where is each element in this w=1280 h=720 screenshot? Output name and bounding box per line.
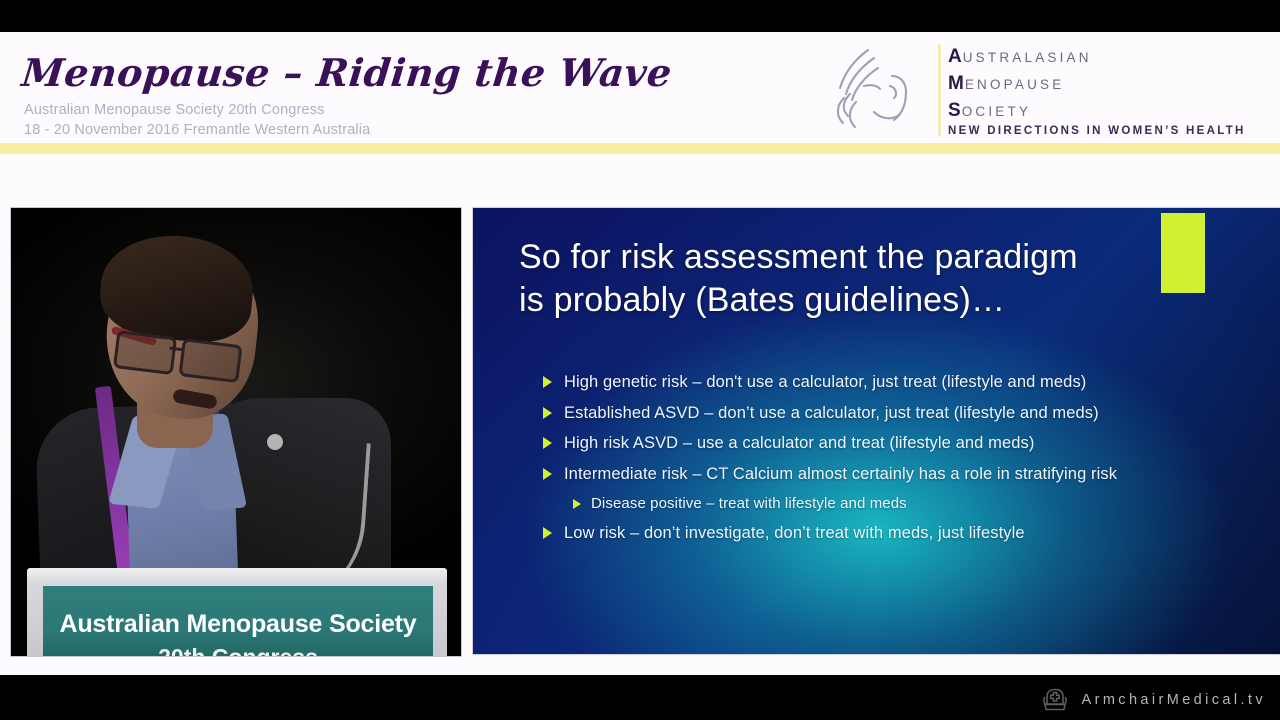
speaker-video-panel[interactable]: Australian Menopause Society 20th Congre… — [10, 207, 462, 657]
list-item: High genetic risk – don't use a calculat… — [543, 373, 1263, 392]
glasses-lens-left — [113, 330, 177, 375]
microphone-head — [267, 434, 283, 450]
slide-title-line2: is probably (Bates guidelines)… — [519, 279, 1219, 322]
list-item: Low risk – don’t investigate, don’t trea… — [543, 524, 1263, 543]
congress-title: Menopause – Riding the Wave — [20, 50, 675, 95]
triangle-bullet-icon — [543, 437, 552, 449]
list-item: Intermediate risk – CT Calcium almost ce… — [543, 465, 1263, 484]
presentation-slide-panel[interactable]: So for risk assessment the paradigm is p… — [472, 207, 1280, 655]
glasses-lens-right — [178, 338, 242, 383]
slide-title-line1: So for risk assessment the paradigm — [519, 236, 1219, 279]
logo-word-australasian: USTRALASIAN — [963, 50, 1092, 65]
congress-subtitle-line1: Australian Menopause Society 20th Congre… — [24, 102, 325, 118]
slide-bullet-list: High genetic risk – don't use a calculat… — [543, 373, 1263, 555]
list-item: High risk ASVD – use a calculator and tr… — [543, 434, 1263, 453]
logo-line-menopause: MENOPAUSE — [948, 74, 1064, 93]
logo-initial-a: A — [948, 46, 963, 67]
podium-sign: Australian Menopause Society 20th Congre… — [43, 586, 433, 656]
bullet-text: Established ASVD – don’t use a calculato… — [564, 404, 1099, 423]
triangle-bullet-icon — [573, 499, 581, 509]
logo-initial-m: M — [948, 73, 965, 94]
podium-sign-line1: Australian Menopause Society — [43, 610, 433, 639]
watermark-brand-text: ArmchairMedical.tv — [1082, 692, 1266, 708]
slide-title: So for risk assessment the paradigm is p… — [519, 236, 1219, 322]
slide-page-background: Menopause – Riding the Wave Australian M… — [0, 32, 1280, 675]
triangle-bullet-icon — [543, 527, 552, 539]
triangle-bullet-icon — [543, 468, 552, 480]
congress-banner: Menopause – Riding the Wave Australian M… — [0, 32, 1280, 153]
logo-word-menopause: ENOPAUSE — [965, 77, 1065, 92]
logo-line-society: SOCIETY — [948, 101, 1031, 120]
face-profile-icon — [828, 42, 928, 140]
podium-sign-line2: 20th Congress — [43, 644, 433, 656]
logo-initial-s: S — [948, 100, 962, 121]
logo-line-australasian: AUSTRALASIAN — [948, 47, 1092, 66]
armchair-medical-watermark[interactable]: ArmchairMedical.tv — [1042, 686, 1266, 714]
bullet-text: Low risk – don’t investigate, don’t trea… — [564, 524, 1025, 543]
logo-word-society: OCIETY — [962, 104, 1031, 119]
content-row: Australian Menopause Society 20th Congre… — [0, 207, 1280, 655]
bullet-text: High genetic risk – don't use a calculat… — [564, 373, 1086, 392]
congress-subtitle-line2: 18 - 20 November 2016 Fremantle Western … — [24, 122, 370, 138]
logo-divider — [938, 44, 941, 136]
bullet-text: Intermediate risk – CT Calcium almost ce… — [564, 465, 1117, 484]
logo-tagline: NEW DIRECTIONS IN WOMEN’S HEALTH — [948, 125, 1246, 137]
triangle-bullet-icon — [543, 407, 552, 419]
ams-logo: AUSTRALASIAN MENOPAUSE SOCIETY NEW DIREC… — [828, 40, 1273, 145]
list-item-sub: Disease positive – treat with lifestyle … — [573, 495, 1263, 512]
bullet-text: High risk ASVD – use a calculator and tr… — [564, 434, 1034, 453]
banner-yellow-rule — [0, 143, 1280, 154]
list-item: Established ASVD – don’t use a calculato… — [543, 404, 1263, 423]
triangle-bullet-icon — [543, 376, 552, 388]
bullet-text: Disease positive – treat with lifestyle … — [591, 495, 907, 512]
letterbox-top — [0, 0, 1280, 32]
armchair-medical-cross-icon — [1042, 688, 1068, 712]
video-player-stage: Menopause – Riding the Wave Australian M… — [0, 0, 1280, 720]
speaker-video-frame: Australian Menopause Society 20th Congre… — [11, 208, 461, 656]
